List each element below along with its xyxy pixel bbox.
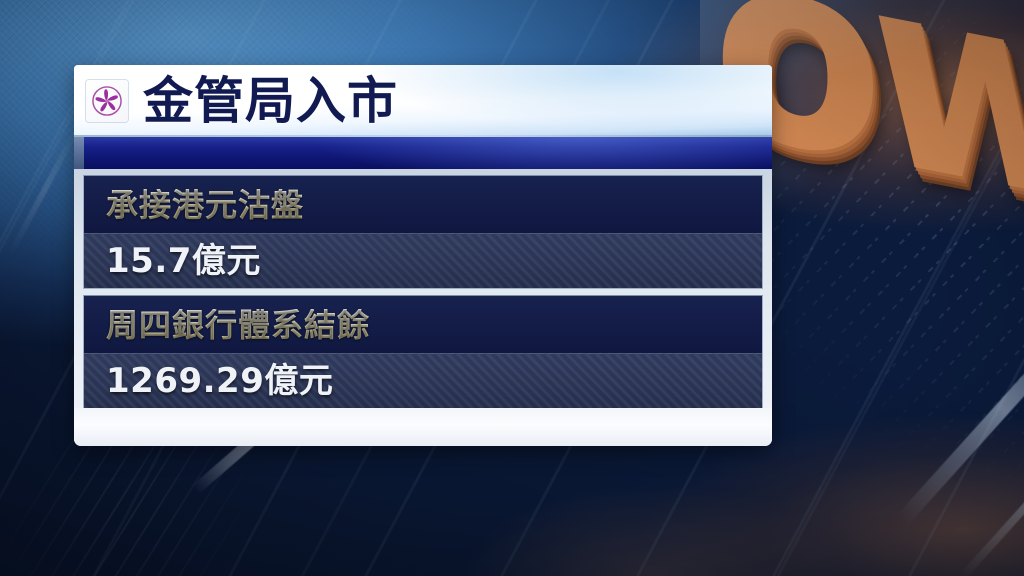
row-value-cell: 15.7億元 xyxy=(84,233,762,288)
row-value: 1269.29億元 xyxy=(106,364,333,398)
row-label: 承接港元沽盤 xyxy=(106,189,304,221)
card-title-bar: 金管局入市 xyxy=(74,65,772,137)
row-label-cell: 承接港元沽盤 xyxy=(84,176,762,233)
row-label: 周四銀行體系結餘 xyxy=(106,309,370,341)
hkma-bauhinia-icon xyxy=(86,80,128,122)
news-info-card: 金管局入市 承接港元沽盤 15.7億元 周四銀行體系結餘 1269.29億元 xyxy=(74,65,772,446)
table-row: 周四銀行體系結餘 1269.29億元 xyxy=(83,295,763,409)
broadcast-screen: ow xyxy=(0,0,1024,576)
row-value: 15.7億元 xyxy=(106,244,261,278)
card-footer-strip xyxy=(74,408,772,446)
row-value-cell: 1269.29億元 xyxy=(84,353,762,408)
row-label-cell: 周四銀行體系結餘 xyxy=(84,296,762,353)
card-divider-bar xyxy=(74,137,772,169)
table-row: 承接港元沽盤 15.7億元 xyxy=(83,175,763,289)
page-title: 金管局入市 xyxy=(143,76,398,126)
card-rows-container: 承接港元沽盤 15.7億元 周四銀行體系結餘 1269.29億元 xyxy=(74,169,772,409)
